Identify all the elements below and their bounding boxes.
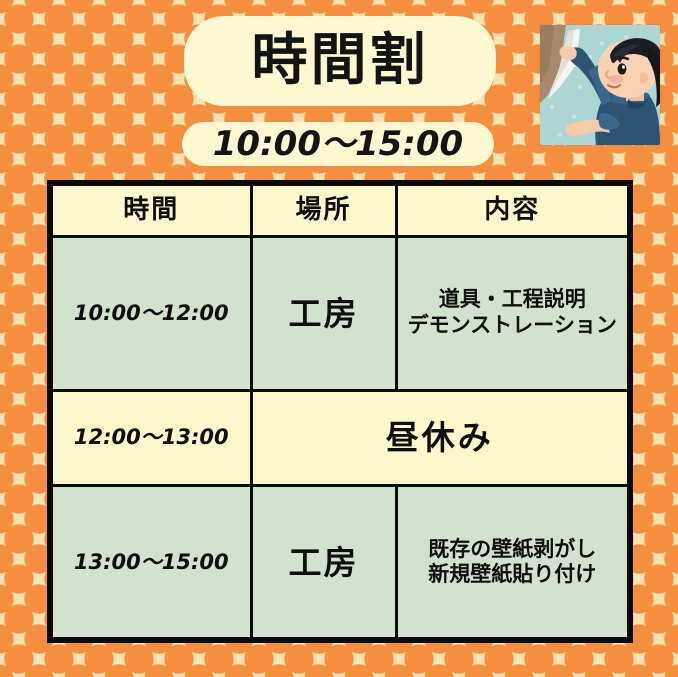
time-range-label: 13:00〜15:00 xyxy=(74,550,229,574)
cell-lunch-break: 昼休み xyxy=(251,390,630,486)
page-title: 時間割 xyxy=(252,33,429,89)
cell-time: 12:00〜13:00 xyxy=(50,390,251,486)
cell-place: 工房 xyxy=(251,236,396,390)
cell-content: 道具・工程説明 デモンストレーション xyxy=(396,236,630,390)
column-header-time: 時間 xyxy=(50,183,251,236)
content-block: 道具・工程説明 デモンストレーション xyxy=(398,287,628,338)
lunch-break-label: 昼休み xyxy=(386,418,494,457)
table-row: 10:00〜12:00 工房 道具・工程説明 デモンストレーション xyxy=(50,236,630,390)
time-range-label: 10:00〜12:00 xyxy=(74,301,229,325)
schedule-table: 時間 場所 内容 10:00〜12:00 工房 xyxy=(47,180,633,643)
cell-time: 13:00〜15:00 xyxy=(50,486,251,640)
cell-content: 既存の壁紙剥がし 新規壁紙貼り付け xyxy=(396,486,630,640)
timetable-poster: 時間割 10:00〜15:00 xyxy=(0,0,678,677)
table-row: 13:00〜15:00 工房 既存の壁紙剥がし 新規壁紙貼り付け xyxy=(50,486,630,640)
content-line-1: 既存の壁紙剥がし xyxy=(398,537,628,563)
cell-place: 工房 xyxy=(251,486,396,640)
place-label: 工房 xyxy=(289,543,359,582)
content-line-2: 新規壁紙貼り付け xyxy=(398,562,628,588)
cell-time: 10:00〜12:00 xyxy=(50,236,251,390)
table-header-row: 時間 場所 内容 xyxy=(50,183,630,236)
table-row: 12:00〜13:00 昼休み xyxy=(50,390,630,486)
title-pill: 時間割 xyxy=(184,16,496,106)
column-header-place: 場所 xyxy=(251,183,396,236)
subtitle-pill: 10:00〜15:00 xyxy=(182,122,494,166)
content-block: 既存の壁紙剥がし 新規壁紙貼り付け xyxy=(398,537,628,588)
overall-time-range: 10:00〜15:00 xyxy=(213,127,463,161)
place-label: 工房 xyxy=(289,294,359,333)
wallpaper-worker-illustration xyxy=(540,25,660,145)
column-header-content-label: 内容 xyxy=(484,195,540,225)
column-header-content: 内容 xyxy=(396,183,630,236)
column-header-time-label: 時間 xyxy=(123,195,179,225)
column-header-place-label: 場所 xyxy=(295,195,351,225)
content-line-1: 道具・工程説明 xyxy=(398,287,628,313)
content-line-2: デモンストレーション xyxy=(398,313,628,339)
time-range-label: 12:00〜13:00 xyxy=(74,425,229,449)
